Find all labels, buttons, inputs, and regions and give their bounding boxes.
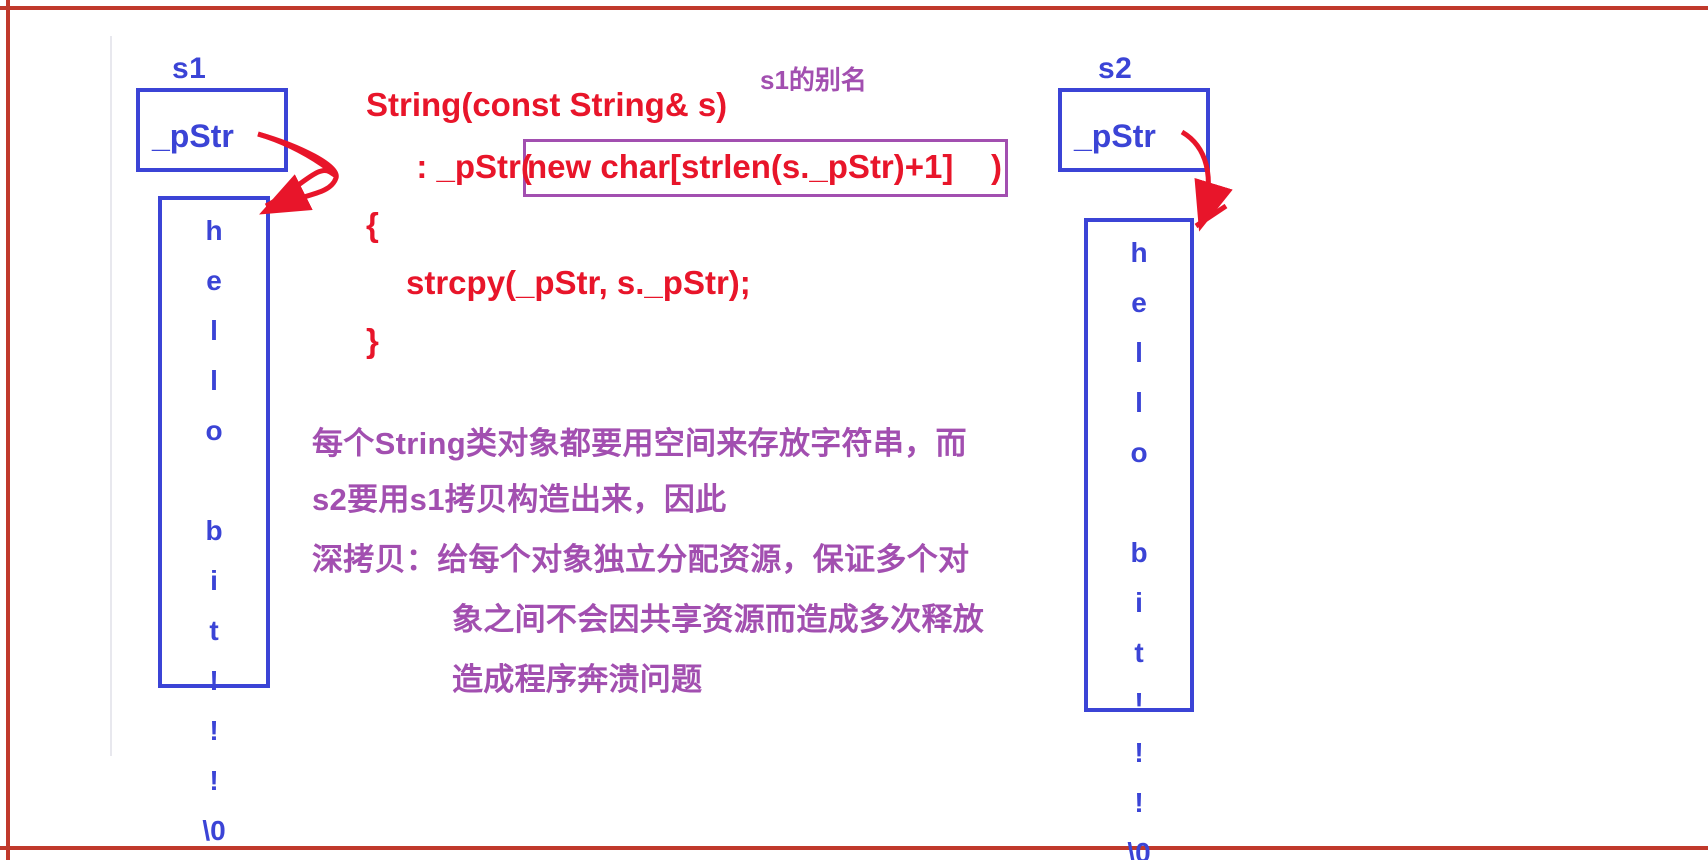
char-cell: h [158,206,270,256]
code-line-open-brace: { [366,206,379,244]
explanation-line-1: 每个String类对象都要用空间来存放字符串，而 [312,418,967,463]
char-cell: ! [1084,778,1194,828]
char-cell: l [1084,378,1194,428]
diagram-canvas: s1 _pStr hello bit!!!\0 s1的别名 String(con… [0,0,1708,860]
char-cell: t [1084,628,1194,678]
code-line-init-suffix: ) [991,148,1002,186]
char-cell: ! [158,756,270,806]
explanation-line-2: s2要用s1拷贝构造出来，因此 [312,474,726,519]
explanation-line-4: 象之间不会因共享资源而造成多次释放 [452,594,984,639]
char-cell: l [1084,328,1194,378]
char-cell [1084,478,1194,528]
char-cell: \0 [1084,828,1194,860]
explanation-line-3: 深拷贝：给每个对象独立分配资源，保证多个对 [312,534,969,579]
s2-pstr-member-label: _pStr [1074,118,1156,155]
code-line-init-prefix: : _pStr( [398,148,532,186]
s1-char-column: hello bit!!!\0 [158,206,270,856]
s1-variable-label: s1 [172,52,206,86]
char-cell: t [158,606,270,656]
char-cell: \0 [158,806,270,856]
page-frame-left-border [6,0,10,860]
explanation-line-5: 造成程序奔溃问题 [452,654,702,699]
page-frame-top-border [0,6,1708,10]
char-cell: h [1084,228,1194,278]
page-margin-divider [110,36,112,756]
char-cell [158,456,270,506]
char-cell: ! [158,656,270,706]
s1-pstr-member-label: _pStr [152,118,234,155]
char-cell: i [158,556,270,606]
char-cell: b [158,506,270,556]
code-line-close-brace: } [366,322,379,360]
char-cell: o [158,406,270,456]
char-cell: l [158,306,270,356]
code-line-strcpy: strcpy(_pStr, s._pStr); [406,264,751,302]
char-cell: ! [158,706,270,756]
s2-pointer-arrow-tail [1196,206,1226,226]
char-cell: o [1084,428,1194,478]
char-cell: i [1084,578,1194,628]
alias-annotation: s1的别名 [760,60,867,97]
char-cell: e [158,256,270,306]
char-cell: l [158,356,270,406]
char-cell: ! [1084,678,1194,728]
char-cell: b [1084,528,1194,578]
code-line-init-highlight: new char[strlen(s._pStr)+1] [527,148,953,186]
code-line-signature: String(const String& s) [366,86,727,124]
char-cell: ! [1084,728,1194,778]
s2-variable-label: s2 [1098,52,1132,86]
s2-char-column: hello bit!!!\0 [1084,228,1194,860]
char-cell: e [1084,278,1194,328]
